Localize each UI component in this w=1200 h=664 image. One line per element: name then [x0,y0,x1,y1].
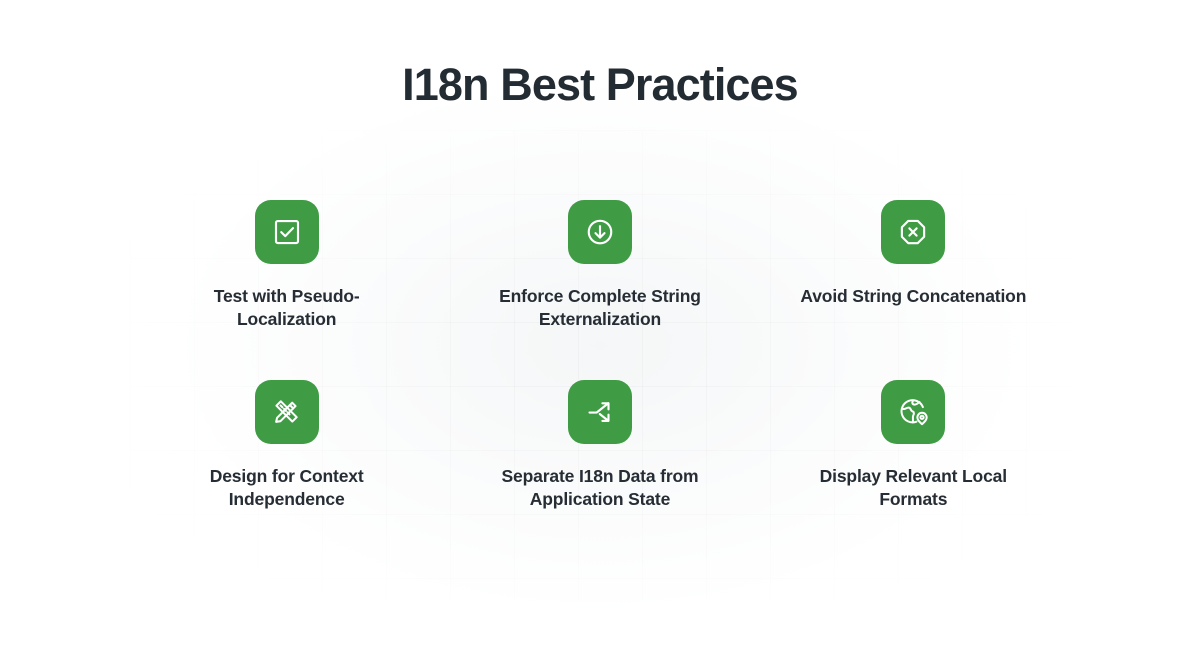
card-avoid-string-concatenation[interactable]: Avoid String Concatenation [757,200,1070,332]
card-label: Display Relevant Local Formats [798,465,1028,512]
card-row-1: Test with Pseudo-Localization Enforce Co… [130,200,1070,332]
card-label: Test with Pseudo-Localization [172,285,402,332]
icon-tile [568,380,632,444]
page-title: I18n Best Practices [0,60,1200,110]
card-label: Separate I18n Data from Application Stat… [485,465,715,512]
x-octagon-icon [898,217,928,247]
card-label: Design for Context Independence [172,465,402,512]
icon-tile [881,380,945,444]
card-label: Enforce Complete String Externalization [485,285,715,332]
checkbox-checked-icon [272,217,302,247]
globe-pin-icon [898,396,929,427]
split-arrows-icon [585,397,615,427]
cards-grid: Test with Pseudo-Localization Enforce Co… [130,200,1070,511]
card-row-2: Design for Context Independence Separate… [130,380,1070,512]
icon-tile [568,200,632,264]
card-design-for-context-independence[interactable]: Design for Context Independence [130,380,443,512]
icon-tile [255,380,319,444]
card-display-relevant-local-formats[interactable]: Display Relevant Local Formats [757,380,1070,512]
pencil-ruler-icon [271,396,302,427]
card-enforce-complete-string-externalization[interactable]: Enforce Complete String Externalization [443,200,756,332]
arrow-down-circle-icon [585,217,615,247]
icon-tile [881,200,945,264]
icon-tile [255,200,319,264]
card-separate-i18n-data-from-application-state[interactable]: Separate I18n Data from Application Stat… [443,380,756,512]
card-label: Avoid String Concatenation [800,285,1026,308]
card-test-with-pseudo-localization[interactable]: Test with Pseudo-Localization [130,200,443,332]
slide-canvas: I18n Best Practices Test with Pseudo-Loc… [0,0,1200,664]
